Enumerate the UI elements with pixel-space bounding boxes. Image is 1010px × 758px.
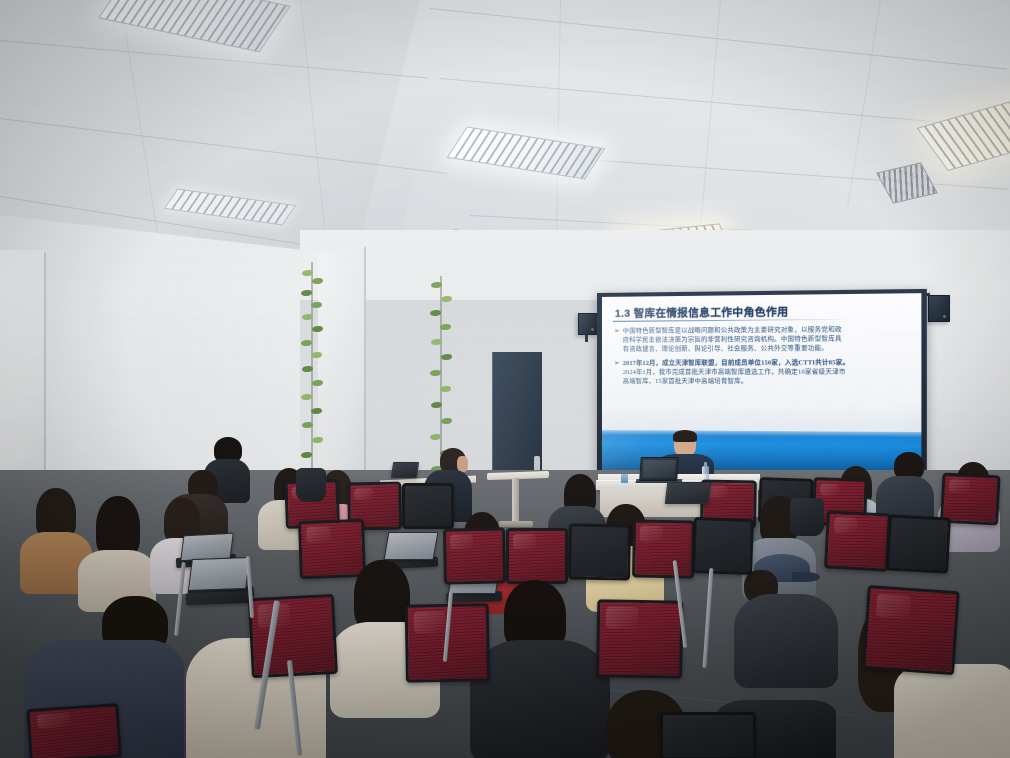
slide-bullet-text: 中国特色新型智库是以战略问题和公共政策为主要研究对象，以服务党和政 府科学民主依… — [623, 325, 842, 354]
speaker-bracket — [585, 335, 588, 342]
bullet-marker-icon: ➢ — [614, 359, 620, 386]
bullet-line: 2024年1月，我市完成首批天津市高端智库遴选工作，共确定10家省级天津市 — [623, 368, 846, 375]
classroom-chair[interactable] — [596, 599, 683, 678]
audience-laptop[interactable] — [665, 482, 712, 504]
classroom-chair[interactable] — [402, 483, 454, 529]
slide-bullet: ➢ 2017年12月，成立天津智库联盟，目前成员单位150家，入选CTTI共计8… — [614, 358, 917, 386]
classroom-chair[interactable] — [824, 510, 891, 571]
bullet-line: 中国特色新型智库是以战略问题和公共政策为主要研究对象，以服务党和政 — [623, 326, 842, 335]
bullet-marker-icon: ➢ — [614, 327, 620, 354]
slide-body: ➢ 中国特色新型智库是以战略问题和公共政策为主要研究对象，以服务党和政 府科学民… — [614, 325, 917, 391]
classroom-chair[interactable] — [26, 703, 122, 758]
classroom-chair[interactable] — [692, 517, 754, 575]
audience-member — [78, 496, 156, 600]
bullet-line: 2017年12月，成立天津智库联盟，目前成员单位150家，入选CTTI共计85家… — [623, 359, 850, 367]
torso — [470, 640, 610, 758]
bullet-line: 有咨政建言、理论创新、舆论引导、社会服务、公共外交等重要功能。 — [623, 345, 828, 353]
classroom-chair[interactable] — [506, 528, 568, 584]
presenter-laptop[interactable] — [639, 457, 679, 481]
chair-tablet-arm — [186, 591, 252, 605]
blue-cup — [621, 474, 628, 483]
classroom-chair[interactable] — [862, 585, 960, 675]
side-desk-laptop[interactable] — [391, 462, 419, 478]
head-hair — [96, 496, 140, 558]
audience-laptop[interactable] — [188, 557, 250, 591]
classroom-chair[interactable] — [632, 519, 695, 578]
torso — [894, 664, 1010, 758]
slide-surface: 1.3 智库在情报信息工作中角色作用 ➢ 中国特色新型智库是以战略问题和公共政策… — [602, 293, 921, 474]
bullet-line: 高端智库、15家首批天津中高端培育智库。 — [623, 378, 748, 385]
wall-speaker-right — [928, 295, 950, 322]
slide-bullet-text: 2017年12月，成立天津智库联盟，目前成员单位150家，入选CTTI共计85家… — [623, 358, 850, 386]
classroom-chair[interactable] — [443, 527, 506, 584]
cap-brim — [792, 572, 820, 582]
presentation-display[interactable]: 1.3 智库在情报信息工作中角色作用 ➢ 中国特色新型智库是以战略问题和公共政策… — [597, 289, 927, 479]
audience-member-foreground — [470, 580, 610, 758]
slide-title: 1.3 智库在情报信息工作中角色作用 — [615, 304, 788, 321]
presenter-hair — [673, 430, 697, 442]
torso — [734, 594, 838, 688]
classroom-chair[interactable] — [886, 514, 951, 573]
wall-speaker-left — [578, 313, 598, 335]
classroom-chair[interactable] — [248, 594, 338, 678]
classroom-chair[interactable] — [568, 523, 631, 580]
bullet-line: 府科学民主依法决策为宗旨的非营利性研究咨询机构。中国特色新型智库具 — [623, 335, 842, 343]
backpack — [296, 468, 326, 502]
classroom-chair[interactable] — [660, 712, 756, 758]
audience-laptop[interactable] — [384, 532, 439, 560]
classroom-photo-scene: 家的味道 1.3 智库在情报信息工作中角色作用 ➢ 中国特色新型智库是以战略问题… — [0, 0, 1010, 758]
backpack — [790, 498, 824, 536]
slide-bullet: ➢ 中国特色新型智库是以战略问题和公共政策为主要研究对象，以服务党和政 府科学民… — [614, 325, 917, 354]
